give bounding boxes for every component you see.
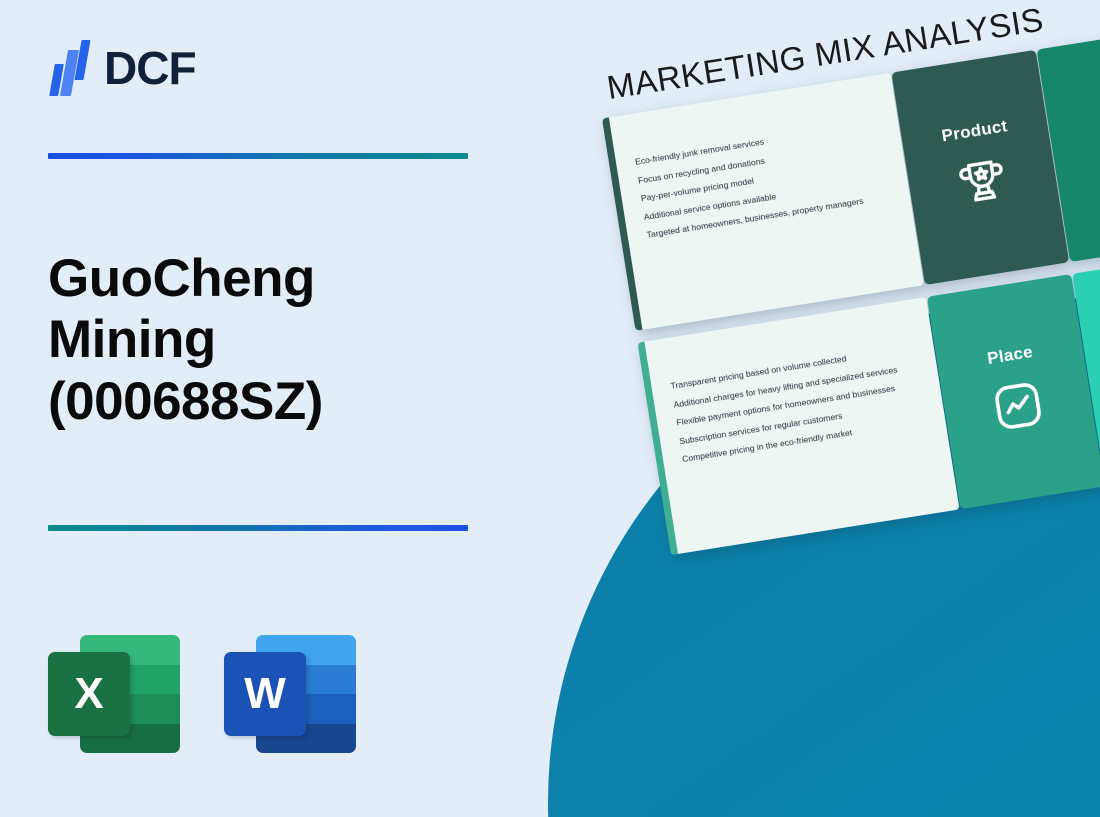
mix-bullets-panel: Transparent pricing based on volume coll… — [637, 297, 959, 555]
divider-bottom — [48, 525, 468, 531]
mix-card-product-label: Product — [940, 116, 1009, 146]
page-title-line-3: (000688SZ) — [48, 371, 478, 432]
chart-wave-icon — [987, 375, 1050, 442]
marketing-mix-grid: Eco-friendly junk removal services Focus… — [602, 25, 1100, 567]
word-icon-letter: W — [224, 652, 306, 736]
trophy-icon — [952, 151, 1015, 218]
title-panel: DCF GuoCheng Mining (000688SZ) X — [0, 0, 520, 817]
dcf-bars-logo-icon — [48, 40, 94, 96]
mix-bullet-list: Eco-friendly junk removal services Focus… — [635, 118, 897, 240]
panel-accent-bar — [637, 342, 678, 555]
brand-logo[interactable]: DCF — [48, 40, 196, 96]
word-file-icon[interactable]: W — [224, 628, 356, 760]
marketing-mix-graphic: MARKETING MIX ANALYSIS Eco-friendly junk… — [562, 0, 1100, 651]
slide-canvas: DCF GuoCheng Mining (000688SZ) X — [0, 0, 1100, 817]
excel-file-icon[interactable]: X — [48, 628, 180, 760]
panel-accent-bar — [602, 117, 643, 330]
mix-bullet-list: Transparent pricing based on volume coll… — [670, 343, 932, 465]
divider-top — [48, 153, 468, 159]
excel-icon-letter: X — [48, 652, 130, 736]
brand-name: DCF — [104, 45, 196, 91]
page-title-line-2: Mining — [48, 309, 478, 370]
mix-card-place-label: Place — [986, 342, 1035, 369]
mix-bullets-panel: Eco-friendly junk removal services Focus… — [602, 73, 924, 331]
page-title-line-1: GuoCheng — [48, 248, 478, 309]
download-formats: X W — [48, 628, 356, 760]
page-title: GuoCheng Mining (000688SZ) — [48, 248, 478, 432]
